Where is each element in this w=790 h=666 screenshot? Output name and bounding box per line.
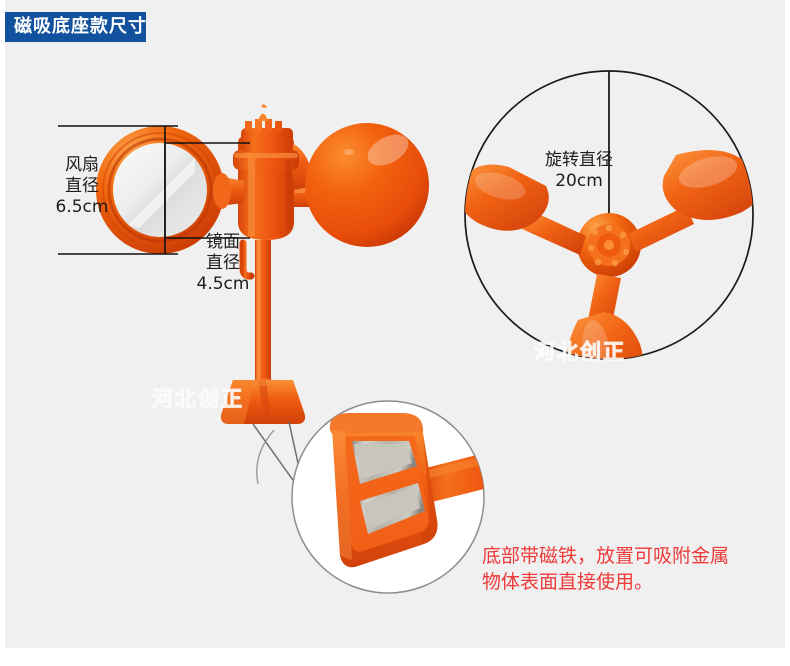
rotation-diameter-value: 20cm	[555, 171, 603, 191]
magnet-note-line1: 底部带磁铁，放置可吸附金属	[482, 545, 729, 567]
fan-diameter-text2: 直径	[65, 176, 99, 196]
fan-diameter-label: 风扇直径6.5cm	[44, 155, 120, 218]
callout-arc-fragment	[257, 430, 274, 484]
magnet-note: 底部带磁铁，放置可吸附金属物体表面直接使用。	[482, 543, 729, 595]
mirror-diameter-label: 镜面直径4.5cm	[185, 232, 261, 295]
rotation-diameter-label: 旋转直径20cm	[524, 150, 634, 192]
fan-diameter-text: 风扇	[65, 155, 99, 175]
mirror-diameter-value: 4.5cm	[197, 274, 250, 294]
gear-cap	[241, 104, 293, 152]
counterweight-sphere	[305, 123, 429, 247]
right-rotation-diagram	[460, 71, 761, 408]
mirror-diameter-text: 镜面	[206, 232, 240, 252]
rotation-diameter-text: 旋转直径	[545, 150, 613, 170]
magnetic-base-stand	[221, 378, 305, 424]
product-spec-image: 磁吸底座款尺寸	[0, 0, 790, 666]
mirror-diameter-text2: 直径	[206, 253, 240, 273]
fan-diameter-value: 6.5cm	[56, 197, 109, 217]
magnet-note-line2: 物体表面直接使用。	[482, 571, 653, 593]
